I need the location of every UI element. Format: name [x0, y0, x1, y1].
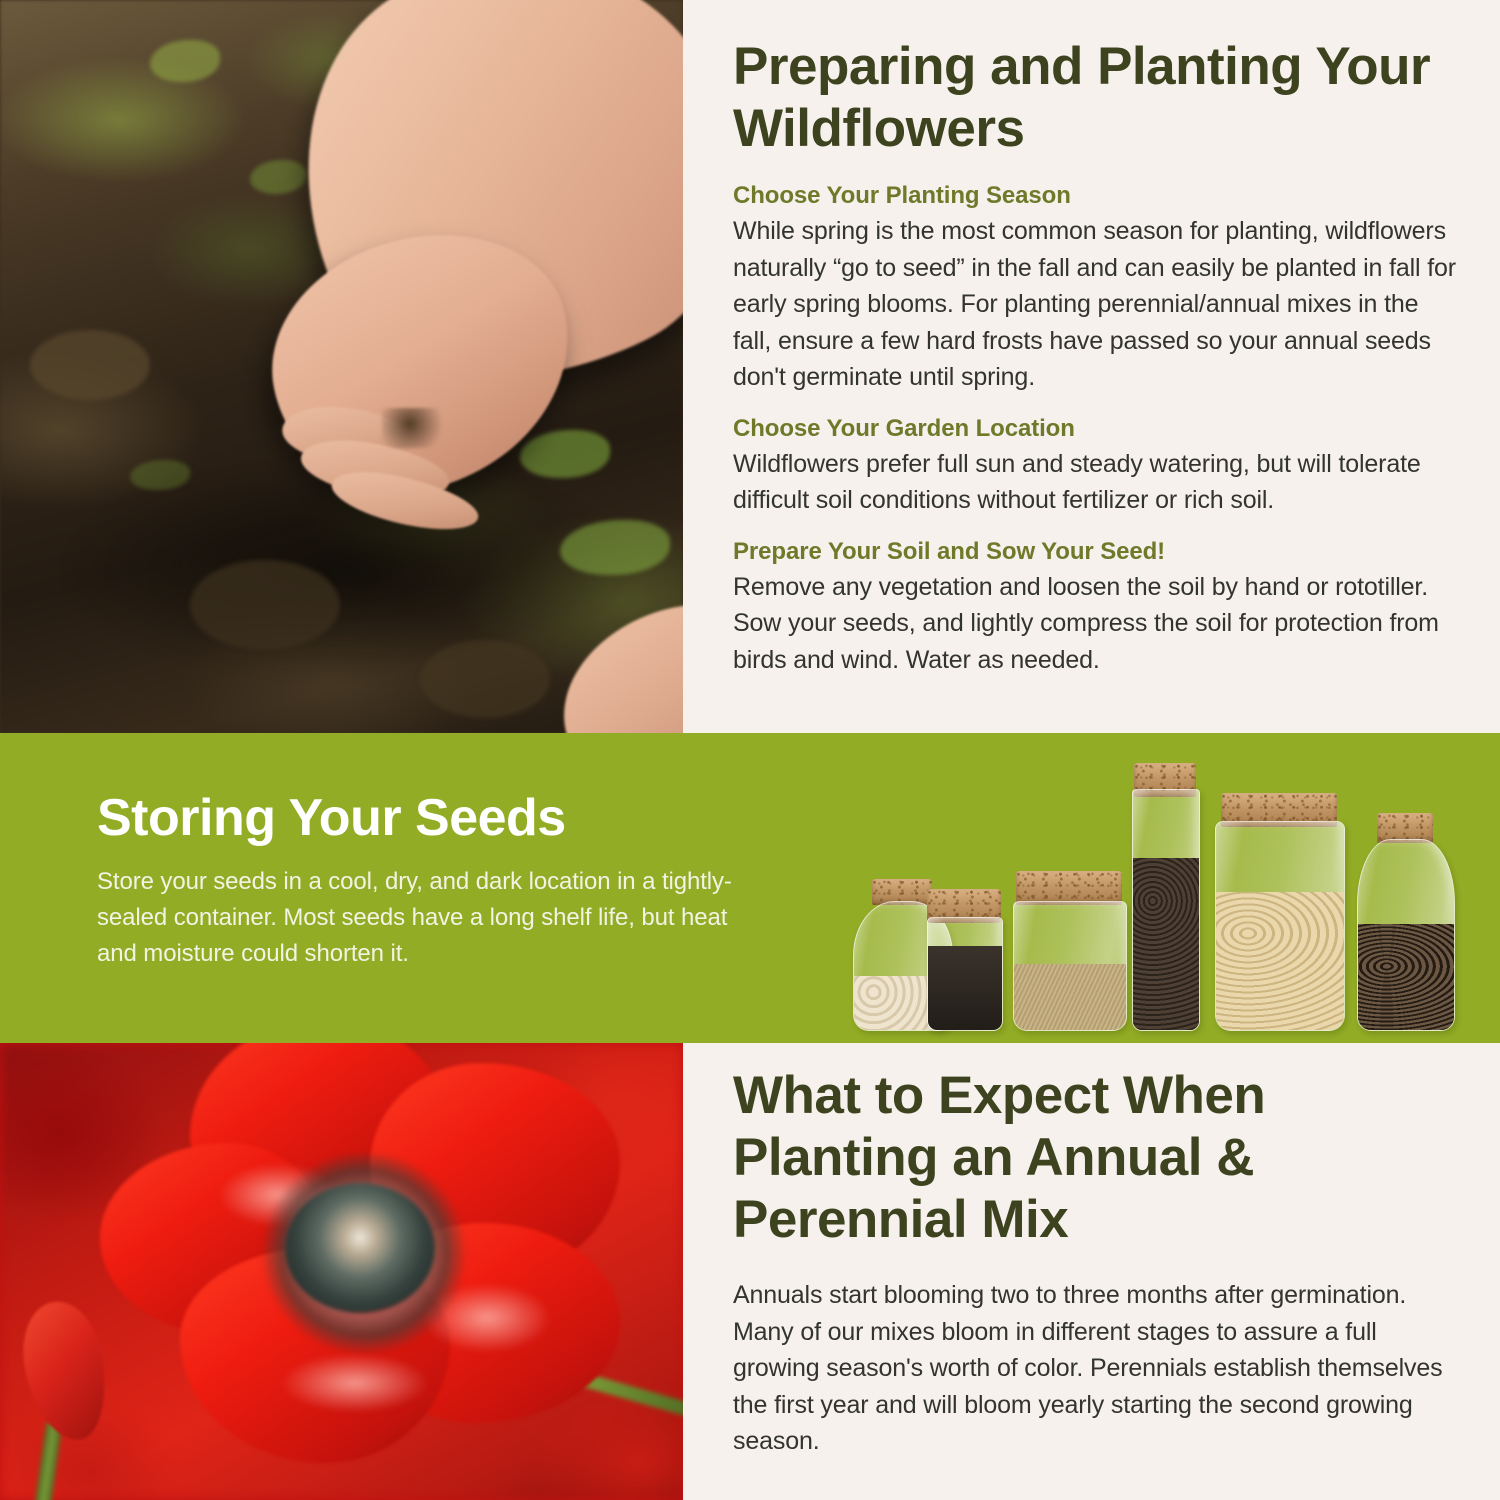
subheading-planting-season: Choose Your Planting Season	[733, 182, 1458, 210]
body-planting-season: While spring is the most common season f…	[733, 213, 1458, 396]
red-poppy-photo	[0, 1043, 683, 1500]
planting-copy: Preparing and Planting Your Wildflowers …	[683, 0, 1500, 733]
expectations-heading: What to Expect When Planting an Annual &…	[733, 1065, 1458, 1251]
seed-jar-fine-tan	[1013, 871, 1125, 1031]
glass-jar	[1132, 789, 1200, 1031]
jar-contents-fine-tan-seeds	[1014, 964, 1126, 1030]
petal-highlight	[280, 1353, 430, 1413]
storing-section: Storing Your Seeds Store your seeds in a…	[0, 733, 1500, 1043]
seed-jar-black	[927, 889, 1001, 1031]
seed-jar-pumpkin	[1215, 793, 1343, 1031]
soil-clump	[190, 560, 340, 650]
hand-sowing-seeds-photo	[0, 0, 683, 733]
expectations-body: Annuals start blooming two to three mont…	[733, 1277, 1458, 1460]
seed-jar-tall-tube	[1132, 763, 1198, 1031]
planting-section: Preparing and Planting Your Wildflowers …	[0, 0, 1500, 733]
storing-copy: Storing Your Seeds Store your seeds in a…	[97, 791, 757, 972]
storing-body: Store your seeds in a cool, dry, and dar…	[97, 864, 757, 972]
body-prepare-soil: Remove any vegetation and loosen the soi…	[733, 569, 1458, 679]
soil-clump	[30, 330, 150, 400]
subheading-prepare-soil: Prepare Your Soil and Sow Your Seed!	[733, 538, 1458, 566]
body-garden-location: Wildflowers prefer full sun and steady w…	[733, 446, 1458, 519]
jar-contents-pumpkin-seeds	[1216, 892, 1344, 1030]
expectations-section: What to Expect When Planting an Annual &…	[0, 1043, 1500, 1500]
poppy-bloom	[70, 1043, 640, 1483]
jar-contents-black-seeds	[928, 946, 1002, 1030]
expectations-copy: What to Expect When Planting an Annual &…	[683, 1043, 1500, 1500]
seed-jar-sunflower	[1357, 813, 1453, 1031]
storing-heading: Storing Your Seeds	[97, 791, 757, 846]
cork-lid	[1016, 871, 1122, 905]
glass-jar	[1013, 901, 1127, 1031]
glass-jar	[927, 917, 1003, 1031]
seed-jars-photo	[845, 733, 1500, 1043]
soil-clump	[420, 640, 550, 718]
glass-jar	[1215, 821, 1345, 1031]
subheading-garden-location: Choose Your Garden Location	[733, 415, 1458, 443]
poppy-center-stigma	[285, 1183, 435, 1313]
planting-heading: Preparing and Planting Your Wildflowers	[733, 36, 1458, 160]
seeds-in-palm	[382, 408, 452, 448]
jar-contents-dark-seeds	[1133, 858, 1199, 1030]
jar-contents-sunflower-seeds	[1358, 924, 1454, 1030]
glass-jar	[1357, 839, 1455, 1031]
infographic-page: Preparing and Planting Your Wildflowers …	[0, 0, 1500, 1500]
